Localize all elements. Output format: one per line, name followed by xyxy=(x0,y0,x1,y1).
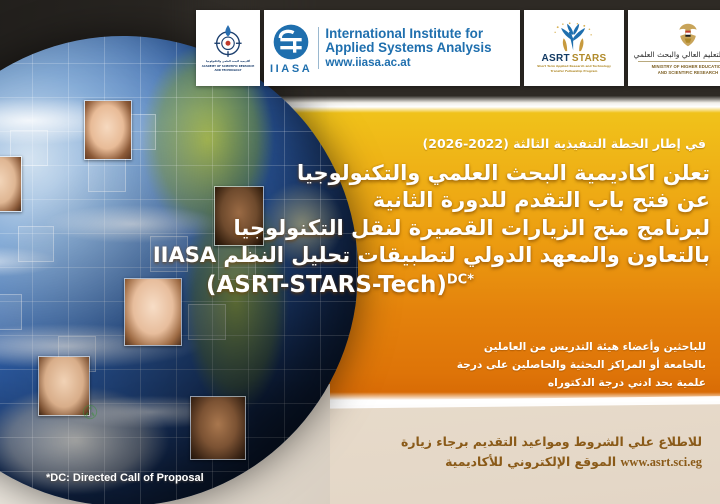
headline-line-4: بالتعاون والمعهد الدولي لتطبيقات تحليل ا… xyxy=(10,242,710,269)
iiasa-wordmark: IIASA xyxy=(270,63,312,75)
iiasa-url[interactable]: www.iiasa.ac.at xyxy=(325,56,491,69)
ministry-title-en-line2: AND SCIENTIFIC RESEARCH xyxy=(658,70,718,76)
eligibility-line-3: علمية بحد ادني درجة الدكتوراه xyxy=(386,374,706,392)
headline-line-2: عن فتح باب التقدم للدورة الثانية xyxy=(10,187,710,214)
headline-line-1: تعلن اكاديمية البحث العلمي والتكنولوجيا xyxy=(10,160,710,187)
cta-block: للاطلاع علي الشروط ومواعيد التقديم برجاء… xyxy=(282,432,702,472)
kicker-text: في إطار الخطة التنفيذية الثالثة (2022-20… xyxy=(146,136,706,151)
ministry-title-ar: وزارة التعليم العالي والبحث العلمي xyxy=(634,50,720,59)
logo-bar: أكاديمية البحث العلمي والتكنولوجيا ACADE… xyxy=(196,10,720,86)
headline-block: تعلن اكاديمية البحث العلمي والتكنولوجيا … xyxy=(10,160,710,301)
asrt-logo-card: أكاديمية البحث العلمي والتكنولوجيا ACADE… xyxy=(196,10,260,86)
asrt-logo-caption-ar: أكاديمية البحث العلمي والتكنولوجيا xyxy=(206,60,250,63)
globe-face-tile xyxy=(190,396,246,460)
program-code: (ASRT-STARS-Tech)DC* xyxy=(10,271,710,301)
poster-root: أكاديمية البحث العلمي والتكنولوجيا ACADE… xyxy=(0,0,720,504)
ministry-logo-card: وزارة التعليم العالي والبحث العلمي MINIS… xyxy=(628,10,720,86)
cta-line-2-prefix: الموقع الإلكتروني للأكاديمية xyxy=(445,454,616,469)
iiasa-emblem-icon xyxy=(271,22,311,62)
iiasa-title-line2: Applied Systems Analysis xyxy=(325,41,491,55)
eligibility-line-2: بالجامعة أو المراكز البحثية والحاصلين عل… xyxy=(386,356,706,374)
footnote-text: *DC: Directed Call of Proposal xyxy=(46,472,204,484)
iiasa-title-line1: International Institute for xyxy=(325,27,491,41)
eligibility-line-1: للباحثين وأعضاء هيئة التدريس من العاملين xyxy=(386,338,706,356)
stars-subtitle-line2: Transfer Fellowship Program xyxy=(551,70,598,74)
stars-tree-hands-icon xyxy=(548,22,600,52)
ministry-divider xyxy=(638,61,720,62)
cta-website-url[interactable]: www.asrt.sci.eg xyxy=(620,455,702,469)
cta-line-2: www.asrt.sci.eg الموقع الإلكتروني للأكاد… xyxy=(282,452,702,472)
eligibility-block: للباحثين وأعضاء هيئة التدريس من العاملين… xyxy=(386,338,706,393)
asrt-emblem-icon xyxy=(211,24,245,58)
program-code-superscript: DC* xyxy=(447,273,474,288)
asrt-stars-logo-card: ASRT STARS Short Term Applied Research a… xyxy=(524,10,624,86)
recycle-icon xyxy=(82,404,98,420)
stars-word-stars: STARS xyxy=(572,53,607,64)
iiasa-logo-card: IIASA International Institute for Applie… xyxy=(264,10,520,86)
cta-line-1: للاطلاع علي الشروط ومواعيد التقديم برجاء… xyxy=(282,432,702,452)
stars-word-asrt: ASRT xyxy=(541,53,569,64)
asrt-logo-caption-en: ACADEMY OF SCIENTIFIC RESEARCH AND TECHN… xyxy=(199,65,257,71)
headline-line-3: لبرنامج منح الزيارات القصيرة لنقل التكنو… xyxy=(10,215,710,242)
egypt-eagle-emblem-icon xyxy=(675,21,701,49)
program-code-text: (ASRT-STARS-Tech) xyxy=(206,272,447,298)
globe-face-tile xyxy=(84,100,132,160)
